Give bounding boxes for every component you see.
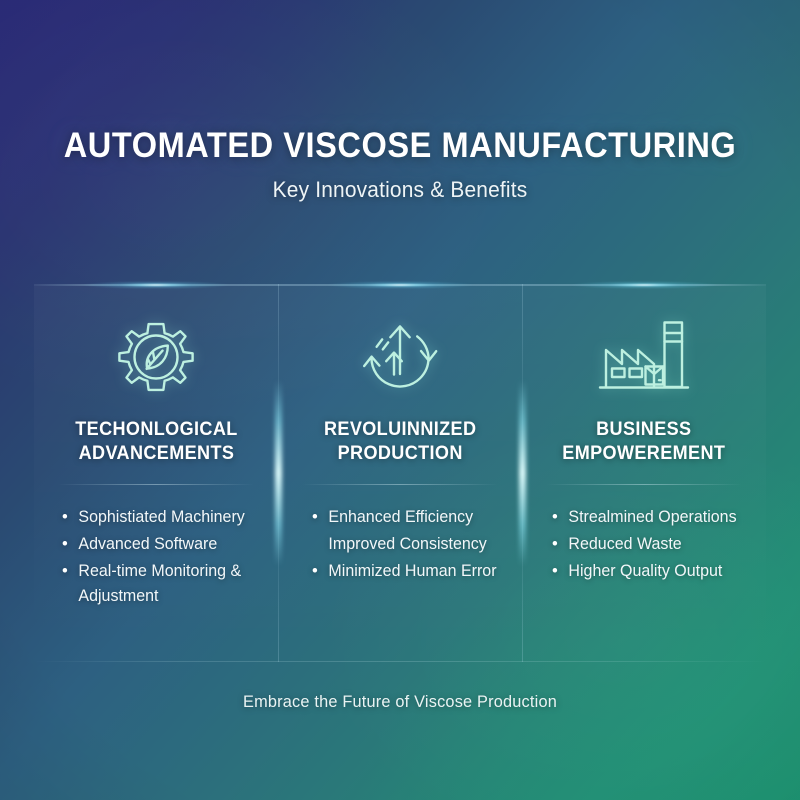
column-bullet-list: Sophistiated Machinery Advanced Software… — [52, 505, 260, 611]
list-item: Advanced Software — [60, 532, 254, 557]
list-item: Higher Quality Output — [550, 559, 742, 584]
column-revolutionized-production: REVOLUINNIZED PRODUCTION Enhanced Effici… — [278, 284, 522, 662]
column-heading-rule — [546, 484, 742, 485]
list-item: Reduced Waste — [550, 532, 742, 557]
factory-icon — [540, 310, 748, 406]
page-title: AUTOMATED VISCOSE MANUFACTURING — [28, 126, 772, 166]
column-title: BUSINESS EMPOWEREMENT — [562, 418, 725, 466]
columns-row: TECHONLOGICAL ADVANCEMENTS Sophistiated … — [34, 284, 766, 662]
column-heading-rule — [58, 484, 254, 485]
page-subtitle: Key Innovations & Benefits — [20, 177, 780, 203]
column-title: REVOLUINNIZED PRODUCTION — [324, 418, 476, 466]
column-bullet-list: Enhanced Efficiency Improved Consistency… — [296, 505, 504, 586]
columns-panel: TECHONLOGICAL ADVANCEMENTS Sophistiated … — [34, 284, 766, 662]
gear-leaf-icon — [52, 310, 260, 406]
list-item: Enhanced Efficiency — [310, 505, 498, 530]
circular-arrows-up-icon — [296, 310, 504, 406]
list-item: Sophistiated Machinery — [60, 505, 254, 530]
column-title: TECHONLOGICAL ADVANCEMENTS — [75, 418, 237, 466]
list-item: Improved Consistency — [310, 532, 498, 557]
column-heading-rule — [302, 484, 498, 485]
footer-tagline: Embrace the Future of Viscose Production — [16, 692, 784, 712]
list-item: Real-time Monitoring & Adjustment — [60, 559, 254, 609]
infographic-poster: AUTOMATED VISCOSE MANUFACTURING Key Inno… — [0, 0, 800, 800]
header: AUTOMATED VISCOSE MANUFACTURING Key Inno… — [0, 0, 800, 203]
column-bullet-list: Strealmined Operations Reduced Waste Hig… — [540, 505, 748, 586]
column-business-empowerment: BUSINESS EMPOWEREMENT Strealmined Operat… — [522, 284, 766, 662]
list-item: Strealmined Operations — [550, 505, 742, 530]
column-technological-advancements: TECHONLOGICAL ADVANCEMENTS Sophistiated … — [34, 284, 278, 662]
list-item: Minimized Human Error — [310, 559, 498, 584]
